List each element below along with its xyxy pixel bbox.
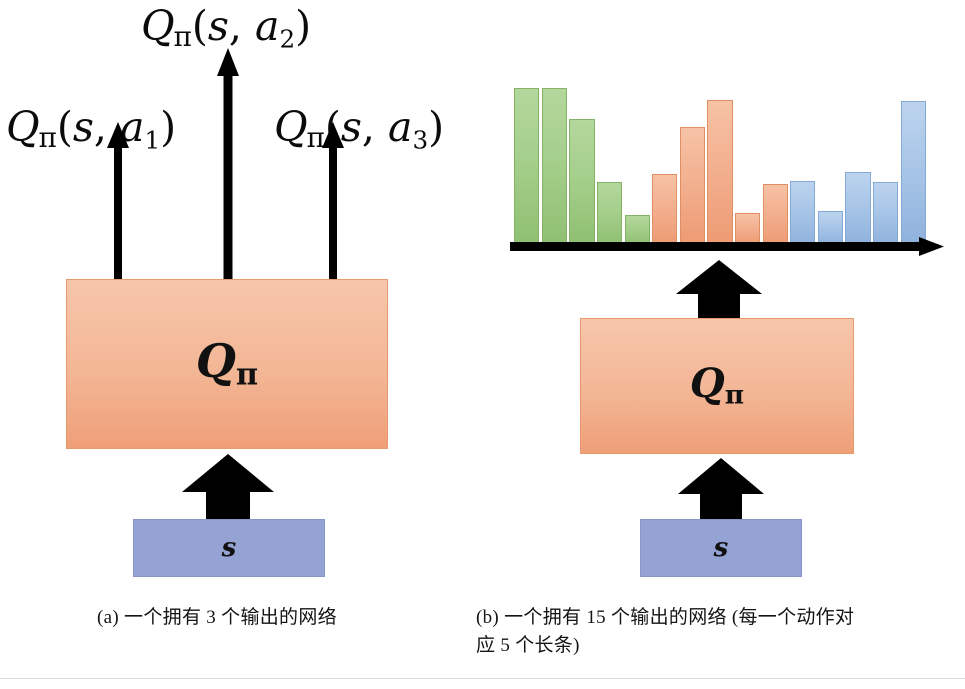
histogram-bar	[652, 174, 677, 245]
histogram-bar	[680, 127, 705, 245]
output-label-a2-comma: ,	[229, 2, 242, 50]
output-label-a2-index: 2	[279, 24, 295, 53]
output-label-a2-pi: π	[174, 20, 192, 53]
state-box-b[interactable]: s	[640, 519, 802, 577]
output-label-a1: Qπ(s, a1)	[6, 107, 176, 153]
state-label-a: s	[222, 535, 237, 561]
histogram-bar	[514, 88, 539, 245]
output-label-a2-open: (	[192, 2, 208, 50]
state-to-network-arrow-b-icon	[676, 456, 766, 526]
histogram-bar	[542, 88, 567, 245]
histogram-bar	[707, 100, 732, 245]
q-network-label-a: Qπ	[196, 338, 258, 390]
network-to-histogram-arrow-icon	[674, 258, 764, 324]
output-label-a1-index: 1	[144, 125, 160, 154]
q-network-box-a[interactable]: Qπ	[66, 279, 388, 449]
output-label-a3-comma: ,	[362, 103, 375, 151]
q-network-label-b-q: Q	[690, 360, 725, 407]
output-label-a1-q: Q	[6, 103, 40, 151]
q-network-label-a-pi: π	[236, 356, 258, 392]
output-arrow-a2-icon	[210, 48, 246, 282]
q-network-label-a-q: Q	[196, 334, 236, 388]
q-network-label-b: Qπ	[690, 364, 744, 409]
output-arrow-a3-icon	[315, 122, 351, 282]
q-network-box-b[interactable]: Qπ	[580, 318, 854, 454]
state-box-a[interactable]: s	[133, 519, 325, 577]
output-label-a1-s: s	[73, 103, 94, 151]
histogram-bar	[569, 119, 594, 245]
caption-b-line1: (b) 一个拥有 15 个输出的网络 (每一个动作对	[476, 604, 956, 632]
figure-root: Qπ(s, a2) Qπ(s, a1) Qπ(s, a3) Qπ s (a) 一…	[0, 0, 965, 689]
output-label-a3-close: )	[428, 103, 444, 151]
state-to-network-arrow-a-icon	[180, 452, 276, 528]
output-label-a2-a: a	[255, 2, 279, 50]
q-network-label-b-pi: π	[725, 379, 744, 410]
caption-b: (b) 一个拥有 15 个输出的网络 (每一个动作对 应 5 个长条)	[476, 604, 956, 659]
state-label-b: s	[714, 535, 729, 561]
output-label-a1-open: (	[57, 103, 73, 151]
output-arrow-a1-icon	[100, 122, 136, 282]
output-label-a1-pi: π	[39, 121, 57, 154]
output-label-a3-q: Q	[274, 103, 308, 151]
output-label-a2: Qπ(s, a2)	[141, 6, 311, 52]
output-label-a1-close: )	[160, 103, 176, 151]
histogram-axis-arrow-icon	[506, 236, 946, 260]
output-histogram	[513, 85, 927, 245]
output-label-a2-close: )	[295, 2, 311, 50]
caption-b-line2: 应 5 个长条)	[476, 632, 956, 660]
output-label-a3-a: a	[388, 103, 412, 151]
output-label-a2-q: Q	[141, 2, 175, 50]
output-label-a3-index: 3	[412, 125, 428, 154]
output-label-a3: Qπ(s, a3)	[274, 107, 444, 153]
caption-a: (a) 一个拥有 3 个输出的网络	[97, 604, 417, 632]
output-label-a2-s: s	[208, 2, 229, 50]
histogram-bar	[901, 101, 926, 245]
histogram-bar	[845, 172, 870, 245]
page-bottom-rule	[0, 678, 965, 679]
